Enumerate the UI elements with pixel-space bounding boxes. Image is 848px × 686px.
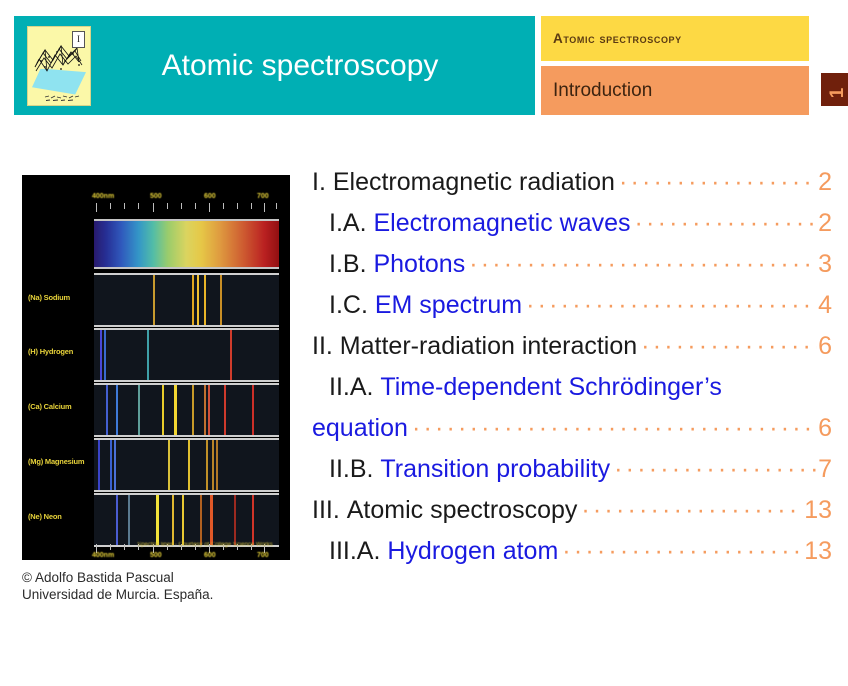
axis-top-label-2: 600 [204, 193, 216, 200]
toc-entry-page: 2 [818, 162, 832, 203]
toc-entry-page: 13 [804, 531, 832, 572]
spectrum-band-sodium [94, 273, 279, 327]
toc-dot-leader: ········································… [635, 203, 817, 244]
title-bar: I Atomic spectroscopy [14, 16, 535, 115]
toc-entry-label: Atomic spectroscopy [347, 490, 578, 531]
nav-subsection-current[interactable]: Introduction [541, 66, 809, 115]
toc-entry-page: 3 [818, 244, 832, 285]
toc-entry-label: Transition probability [380, 449, 610, 490]
toc-entry-number: II.B. [329, 449, 380, 490]
toc-entry-label: EM spectrum [375, 285, 522, 326]
spectrum-label-column [22, 175, 92, 560]
credit-institution: Universidad de Murcia. España. [22, 586, 290, 603]
toc-entry[interactable]: I.A. Electromagnetic waves··············… [312, 203, 832, 244]
axis-top-label-3: 700 [257, 193, 269, 200]
toc-entry-page: 2 [818, 203, 832, 244]
spectrum-row-label-sodium: (Na) Sodium [28, 293, 92, 302]
toc-entry-label: equation [312, 408, 408, 449]
toc-entry-page: 6 [818, 326, 832, 367]
course-logo: I [27, 26, 91, 106]
toc-entry[interactable]: I. Electromagnetic radiation············… [312, 162, 832, 203]
toc-entry-label: Electromagnetic radiation [333, 162, 615, 203]
slide-header: I Atomic spectroscopy Atomic spectroscop… [0, 0, 848, 130]
toc-entry[interactable]: II.A. Time-dependent Schrödinger’s [312, 367, 832, 408]
logo-corner-mark: I [72, 31, 85, 48]
toc-dot-leader: ········································… [641, 326, 817, 367]
toc-entry[interactable]: I.B. Photons····························… [312, 244, 832, 285]
toc-entry-number: I.A. [329, 203, 373, 244]
toc-entry-page: 7 [818, 449, 832, 490]
spectrum-caption: Spectral lines - Courtesy of College Sci… [130, 542, 280, 548]
toc-entry-label: Matter-radiation interaction [340, 326, 637, 367]
axis-top-label-1: 500 [150, 193, 162, 200]
spectrum-band-hydrogen [94, 328, 279, 382]
toc-entry-label: Time-dependent Schrödinger’s [380, 367, 721, 408]
toc-dot-leader: ········································… [469, 244, 817, 285]
toc-entry[interactable]: equation································… [312, 408, 832, 449]
spectrum-row-label-magnesium: (Mg) Magnesium [28, 457, 92, 466]
toc-entry-label: Photons [373, 244, 465, 285]
axis-bottom-label-1: 500 [150, 552, 162, 559]
toc-entry-number: III. [312, 490, 347, 531]
toc-dot-leader: ········································… [614, 449, 817, 490]
toc-dot-leader: ········································… [526, 285, 817, 326]
toc-entry-number: I.C. [329, 285, 375, 326]
table-of-contents: I. Electromagnetic radiation············… [312, 162, 832, 572]
spectrum-row-label-calcium: (Ca) Calcium [28, 402, 92, 411]
toc-entry-page: 13 [804, 490, 832, 531]
axis-top-label-0: 400nm [92, 193, 114, 200]
credit-block: © Adolfo Bastida Pascual Universidad de … [22, 569, 290, 603]
toc-dot-leader: ········································… [412, 408, 817, 449]
toc-entry-page: 4 [818, 285, 832, 326]
axis-bottom-label-0: 400nm [92, 552, 114, 559]
toc-dot-leader: ········································… [562, 531, 803, 572]
toc-entry-number: II.A. [329, 367, 380, 408]
spectrum-row-label-hydrogen: (H) Hydrogen [28, 347, 92, 356]
emission-spectra-image: 400nm 500 600 700 (Na) Sodium (H) Hydrog… [22, 175, 290, 560]
toc-entry-label: Electromagnetic waves [373, 203, 630, 244]
navigation-panel: Atomic spectroscopy Introduction [541, 16, 809, 115]
continuous-spectrum-band [94, 219, 279, 269]
credit-author: Adolfo Bastida Pascual [35, 570, 174, 585]
toc-entry[interactable]: III. Atomic spectroscopy················… [312, 490, 832, 531]
toc-dot-leader: ········································… [619, 162, 817, 203]
spectrum-band-neon [94, 493, 279, 547]
toc-entry[interactable]: III.A. Hydrogen atom····················… [312, 531, 832, 572]
toc-entry[interactable]: II.B. Transition probability············… [312, 449, 832, 490]
nav-subsection-label: Introduction [553, 80, 652, 102]
toc-entry-number: I. [312, 162, 333, 203]
toc-entry-label: Hydrogen atom [387, 531, 558, 572]
logo-caption-scribble [44, 94, 82, 102]
page-title: Atomic spectroscopy [91, 49, 535, 83]
page-number-badge: 1 [819, 71, 848, 108]
nav-section-current[interactable]: Atomic spectroscopy [541, 16, 809, 61]
axis-bottom-label-2: 600 [204, 552, 216, 559]
toc-entry[interactable]: I.C. EM spectrum························… [312, 285, 832, 326]
axis-bottom-label-3: 700 [257, 552, 269, 559]
nav-section-label: Atomic spectroscopy [553, 31, 682, 46]
toc-entry-number: III.A. [329, 531, 387, 572]
figure-area: 400nm 500 600 700 (Na) Sodium (H) Hydrog… [22, 175, 290, 603]
spectrum-axis-top: 400nm 500 600 700 [94, 203, 279, 217]
toc-entry-number: I.B. [329, 244, 373, 285]
toc-entry[interactable]: II. Matter-radiation interaction········… [312, 326, 832, 367]
page-number-value: 1 [827, 73, 848, 108]
copyright-symbol: © [22, 570, 32, 585]
toc-entry-number: II. [312, 326, 340, 367]
spectrum-row-label-neon: (Ne) Neon [28, 512, 92, 521]
toc-dot-leader: ········································… [581, 490, 803, 531]
toc-entry-page: 6 [818, 408, 832, 449]
spectrum-band-magnesium [94, 438, 279, 492]
spectrum-band-calcium [94, 383, 279, 437]
